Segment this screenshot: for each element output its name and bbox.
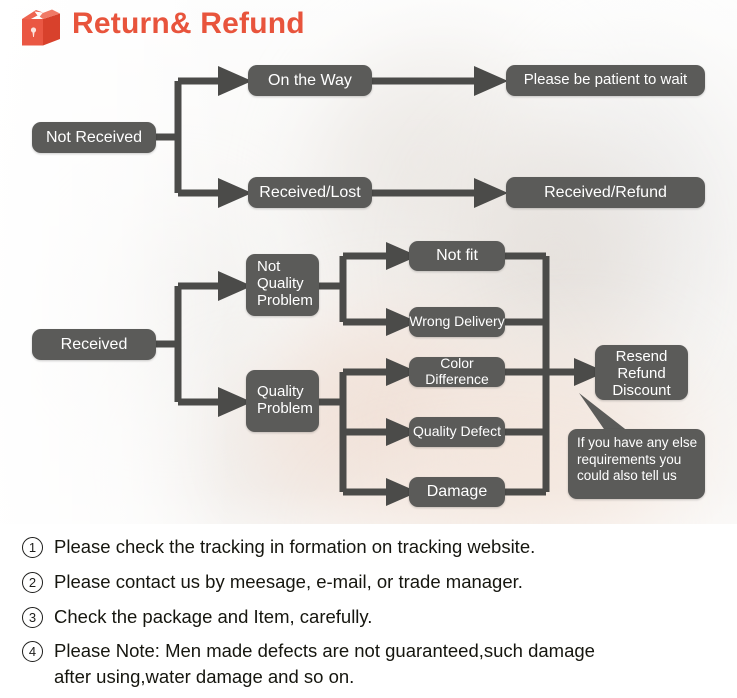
note-item-2: 2 Please contact us by meesage, e-mail, … bbox=[22, 569, 523, 595]
note-text: Please check the tracking in formation o… bbox=[54, 534, 535, 560]
note-number: 3 bbox=[22, 607, 43, 628]
header: Return& Refund bbox=[0, 0, 737, 55]
node-wrong-delivery[interactable]: Wrong Delivery bbox=[409, 307, 505, 337]
arrowhead-patient bbox=[474, 66, 508, 96]
note-number: 2 bbox=[22, 572, 43, 593]
note-item-1: 1 Please check the tracking in formation… bbox=[22, 534, 535, 560]
note-number: 1 bbox=[22, 537, 43, 558]
node-color-difference[interactable]: Color Difference bbox=[409, 357, 505, 387]
node-please-be-patient[interactable]: Please be patient to wait bbox=[506, 65, 705, 96]
node-damage[interactable]: Damage bbox=[409, 477, 505, 507]
note-item-4: 4 Please Note: Men made defects are not … bbox=[22, 638, 595, 689]
callout-bubble[interactable]: If you have any else requirements you co… bbox=[568, 429, 705, 499]
note-text: Please contact us by meesage, e-mail, or… bbox=[54, 569, 523, 595]
note-text: Please Note: Men made defects are not gu… bbox=[54, 638, 595, 689]
note-number: 4 bbox=[22, 641, 43, 662]
node-received-refund[interactable]: Received/Refund bbox=[506, 177, 705, 208]
return-refund-infographic: Return& Refund bbox=[0, 0, 737, 698]
package-box-icon bbox=[18, 6, 63, 50]
node-not-fit[interactable]: Not fit bbox=[409, 241, 505, 271]
page-title: Return& Refund bbox=[72, 7, 305, 41]
node-quality-defect[interactable]: Quality Defect bbox=[409, 417, 505, 447]
node-resend-refund-discount[interactable]: Resend Refund Discount bbox=[595, 345, 688, 400]
notes-list: 1 Please check the tracking in formation… bbox=[0, 524, 737, 698]
node-not-received[interactable]: Not Received bbox=[32, 122, 156, 153]
arrowhead-ontheway bbox=[218, 66, 252, 96]
flowchart: Not Received On the Way Received/Lost Pl… bbox=[0, 0, 737, 520]
node-received-lost[interactable]: Received/Lost bbox=[248, 177, 372, 208]
node-on-the-way[interactable]: On the Way bbox=[248, 65, 372, 96]
node-received[interactable]: Received bbox=[32, 329, 156, 360]
arrowhead-receivedlost bbox=[218, 178, 252, 208]
arrowhead-receivedrefund bbox=[474, 178, 508, 208]
node-quality-problem[interactable]: Quality Problem bbox=[246, 370, 319, 432]
note-item-3: 3 Check the package and Item, carefully. bbox=[22, 604, 372, 630]
note-text: Check the package and Item, carefully. bbox=[54, 604, 372, 630]
node-not-quality-problem[interactable]: Not Quality Problem bbox=[246, 254, 319, 316]
